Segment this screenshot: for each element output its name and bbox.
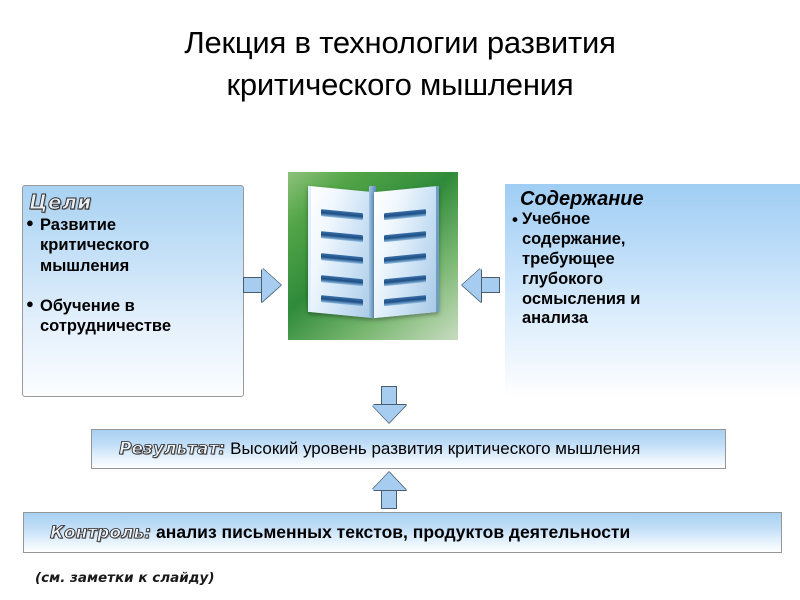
control-label: Контроль: [50, 523, 151, 543]
arrow-down-icon [372, 386, 406, 422]
list-item: Развитие критического мышления [29, 215, 235, 276]
book-page-left [308, 186, 373, 318]
arrow-up-icon [372, 473, 406, 509]
content-list: Учебное содержание, требующее глубокого … [513, 210, 794, 329]
slide-footnote: (см. заметки к слайду) [35, 570, 215, 586]
list-item: Обучение в сотрудничестве [29, 296, 235, 337]
control-text: анализ письменных текстов, продуктов дея… [156, 522, 630, 543]
result-text: Высокий уровень развития критического мы… [230, 439, 640, 459]
result-bar: Результат: Высокий уровень развития крит… [91, 429, 726, 469]
slide-canvas: Лекция в технологии развития критическог… [0, 0, 800, 600]
goals-heading: Цели [29, 192, 235, 212]
goals-list: Развитие критического мышления Обучение … [29, 215, 235, 336]
content-heading: Содержание [513, 188, 794, 210]
goals-box: Цели Развитие критического мышления Обуч… [22, 185, 244, 397]
book-page-right [374, 186, 439, 318]
list-item: Учебное содержание, требующее глубокого … [513, 210, 794, 329]
open-book-icon [288, 172, 458, 340]
arrow-left-icon [462, 268, 500, 302]
result-label: Результат: [119, 439, 225, 459]
content-box: Содержание Учебное содержание, требующее… [505, 184, 800, 397]
control-bar: Контроль: анализ письменных текстов, про… [23, 512, 782, 553]
page-title: Лекция в технологии развития критическог… [60, 22, 740, 105]
arrow-right-icon [243, 268, 281, 302]
